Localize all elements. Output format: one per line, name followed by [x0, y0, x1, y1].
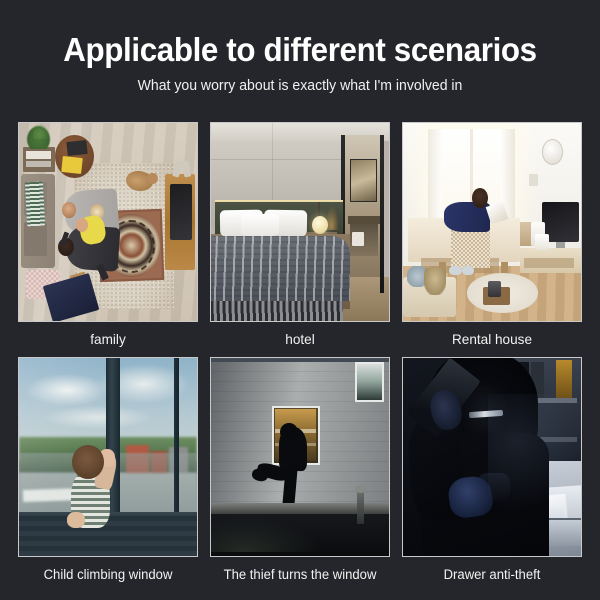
scenario-card-drawer[interactable]: Drawer anti-theft [402, 357, 582, 592]
child-photo [19, 358, 197, 556]
scenario-image-drawer [402, 357, 582, 557]
scenario-card-rental[interactable]: Rental house [402, 122, 582, 357]
scenario-card-thief[interactable]: The thief turns the window [210, 357, 390, 592]
scenario-card-hotel[interactable]: hotel [210, 122, 390, 357]
scenario-image-family [18, 122, 198, 322]
rental-photo [403, 123, 581, 321]
scenario-card-child[interactable]: Child climbing window [18, 357, 198, 592]
scenario-caption-child: Child climbing window [21, 557, 196, 592]
thief-photo [211, 358, 389, 556]
page-subtitle: What you worry about is exactly what I'm… [9, 79, 591, 94]
family-photo [19, 123, 197, 321]
scenario-image-hotel [210, 122, 390, 322]
scenario-caption-family: family [21, 322, 196, 357]
page-title: Applicable to different scenarios [15, 33, 585, 66]
scenario-caption-thief: The thief turns the window [213, 557, 388, 592]
scenario-caption-rental: Rental house [405, 322, 580, 357]
scenario-image-child [18, 357, 198, 557]
scenario-caption-hotel: hotel [213, 322, 388, 357]
scenario-card-family[interactable]: family [18, 122, 198, 357]
scenarios-page: Applicable to different scenarios What y… [0, 0, 600, 600]
hotel-photo [211, 123, 389, 321]
drawer-photo [403, 358, 581, 556]
scenario-caption-drawer: Drawer anti-theft [405, 557, 580, 592]
scenario-image-thief [210, 357, 390, 557]
scenario-image-rental [402, 122, 582, 322]
page-header: Applicable to different scenarios What y… [0, 0, 600, 94]
scenario-grid: family hotel [18, 122, 582, 592]
